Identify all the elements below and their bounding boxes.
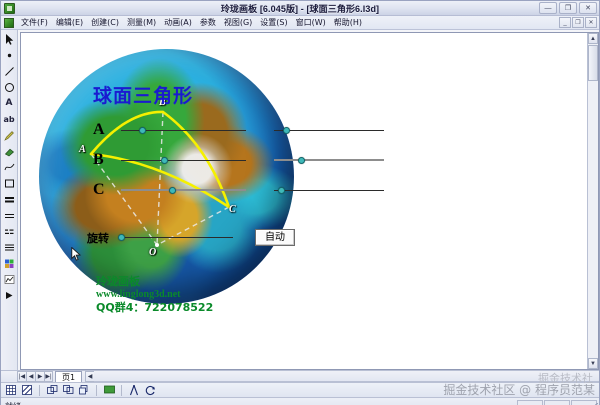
prev-page-button[interactable]: ◀: [26, 371, 35, 382]
document-icon: [4, 18, 14, 28]
auto-button[interactable]: 自动: [255, 229, 295, 246]
status-cells: [517, 400, 597, 405]
slider-label-a: A: [93, 121, 113, 139]
dashed-lines-icon[interactable]: [2, 224, 17, 239]
menu-item-help[interactable]: 帮助(H): [330, 16, 366, 29]
slider-label-b: B: [93, 151, 113, 169]
mdi-minimize-button[interactable]: _: [559, 17, 571, 28]
eraser-icon[interactable]: [2, 144, 17, 159]
toolbar-separator-1: [39, 385, 40, 396]
menu-item-params[interactable]: 参数: [196, 16, 220, 29]
align-center-icon[interactable]: [61, 384, 75, 397]
grid-icon[interactable]: [4, 384, 18, 397]
slider-knob-b-right[interactable]: [298, 157, 305, 164]
mouse-cursor-icon: [71, 247, 82, 262]
center-label-O: O: [149, 247, 156, 258]
application-window: 玲珑画板 [6.045版] - [球面三角形6.l3d] — ❐ ✕ 文件(F)…: [0, 0, 600, 405]
rotate-label: 旋转: [87, 230, 109, 246]
next-page-button[interactable]: ▶: [35, 371, 44, 382]
credit-website: www.linglong3d.net: [96, 289, 213, 302]
menu-item-create[interactable]: 创建(C): [87, 16, 123, 29]
toolbar-separator-2: [96, 385, 97, 396]
menu-item-file[interactable]: 文件(F): [17, 16, 52, 29]
canvas-vertical-scrollbar[interactable]: ▲ ▼: [587, 33, 598, 369]
slider-track-a-left[interactable]: [121, 130, 246, 131]
status-cell-1: [517, 400, 543, 405]
color-palette-icon[interactable]: [2, 256, 17, 271]
title-bar: 玲珑画板 [6.045版] - [球面三角形6.l3d] — ❐ ✕: [1, 1, 599, 16]
window-controls: — ❐ ✕: [539, 2, 597, 14]
grid-lines-icon[interactable]: [2, 240, 17, 255]
slider-label-c: C: [93, 181, 113, 199]
first-page-button[interactable]: |◀: [17, 371, 26, 382]
curve-icon[interactable]: [2, 160, 17, 175]
close-button[interactable]: ✕: [579, 2, 597, 14]
slider-row-b: B: [93, 151, 384, 169]
pencil-icon[interactable]: [2, 128, 17, 143]
align-left-icon[interactable]: [45, 384, 59, 397]
fill-color-icon[interactable]: [102, 384, 116, 397]
vertex-label-A: A: [79, 144, 86, 155]
left-toolbar: A ab: [1, 30, 18, 370]
menu-item-animate[interactable]: 动画(A): [160, 16, 196, 29]
rotate-knob[interactable]: [118, 234, 125, 241]
slider-track-a-right[interactable]: [274, 130, 384, 131]
window-title: 玲珑画板 [6.045版] - [球面三角形6.l3d]: [1, 2, 599, 15]
page-tab-1[interactable]: 页1: [55, 371, 82, 382]
slider-track-b-right[interactable]: [274, 159, 384, 161]
slider-track-c-left[interactable]: [121, 189, 246, 191]
thin-lines-icon[interactable]: [2, 208, 17, 223]
slider-knob-c-right[interactable]: [278, 187, 285, 194]
point-icon[interactable]: [2, 48, 17, 63]
credits-block: 玲珑画板 www.linglong3d.net QQ群4：722078522: [96, 275, 213, 315]
slider-knob-a-left[interactable]: [139, 127, 146, 134]
status-text: 就绪: [5, 401, 21, 405]
page-title: 球面三角形: [93, 81, 193, 108]
menu-item-edit[interactable]: 编辑(E): [52, 16, 87, 29]
rectangle-icon[interactable]: [2, 176, 17, 191]
hscroll-left-button[interactable]: ◀: [85, 371, 94, 382]
watermark-bottom: 掘金技术社区 @ 程序员范某: [443, 381, 595, 398]
graph-icon[interactable]: [2, 272, 17, 287]
circle-icon[interactable]: [2, 80, 17, 95]
toolbar-separator-3: [121, 385, 122, 396]
mdi-close-button[interactable]: ✕: [585, 17, 597, 28]
compass-icon[interactable]: [127, 384, 141, 397]
canvas-area: A B C O 球面三角形 A: [18, 30, 599, 370]
scroll-down-button[interactable]: ▼: [588, 358, 598, 369]
menu-item-view[interactable]: 视图(G): [220, 16, 256, 29]
text-ab-icon[interactable]: ab: [2, 112, 17, 127]
scroll-up-button[interactable]: ▲: [588, 33, 598, 44]
thick-lines-icon[interactable]: [2, 192, 17, 207]
mdi-child-controls: _ ❐ ✕: [559, 17, 597, 28]
drawing-canvas[interactable]: A B C O 球面三角形 A: [20, 32, 599, 370]
rotate-row: 旋转 自动: [87, 229, 295, 246]
status-cell-2: [544, 400, 570, 405]
page-nav-buttons: |◀ ◀ ▶ ▶|: [17, 371, 53, 382]
rotate-track[interactable]: [118, 237, 233, 238]
align-right-icon[interactable]: [77, 384, 91, 397]
credit-app-name: 玲珑画板: [96, 275, 213, 289]
maximize-button[interactable]: ❐: [559, 2, 577, 14]
rotate-icon[interactable]: [143, 384, 157, 397]
hatch-icon[interactable]: [20, 384, 34, 397]
vertex-label-C: C: [229, 204, 236, 215]
status-bar: 就绪: [1, 398, 599, 405]
workspace: A ab: [1, 30, 599, 370]
slider-track-c-right[interactable]: [274, 190, 384, 191]
scroll-thumb[interactable]: [588, 45, 598, 81]
slider-knob-b-left[interactable]: [161, 157, 168, 164]
slider-knob-c-left[interactable]: [169, 187, 176, 194]
slider-knob-a-right[interactable]: [283, 127, 290, 134]
line-icon[interactable]: [2, 64, 17, 79]
slider-row-c: C: [93, 181, 384, 199]
text-A-icon[interactable]: A: [2, 96, 17, 111]
credit-qq-group: QQ群4：722078522: [96, 301, 213, 315]
menu-bar: 文件(F) 编辑(E) 创建(C) 测量(M) 动画(A) 参数 视图(G) 设…: [1, 16, 599, 30]
last-page-button[interactable]: ▶|: [44, 371, 53, 382]
menu-item-measure[interactable]: 测量(M): [123, 16, 160, 29]
minimize-button[interactable]: —: [539, 2, 557, 14]
select-arrow-icon[interactable]: [2, 32, 17, 47]
slider-row-a: A: [93, 121, 384, 139]
play-icon[interactable]: [2, 288, 17, 303]
slider-track-b-left[interactable]: [121, 160, 246, 161]
mdi-restore-button[interactable]: ❐: [572, 17, 584, 28]
menu-item-window[interactable]: 窗口(W): [292, 16, 330, 29]
bottom-toolbar: 掘金技术社区 @ 程序员范某: [1, 383, 599, 398]
menu-item-settings[interactable]: 设置(S): [256, 16, 291, 29]
